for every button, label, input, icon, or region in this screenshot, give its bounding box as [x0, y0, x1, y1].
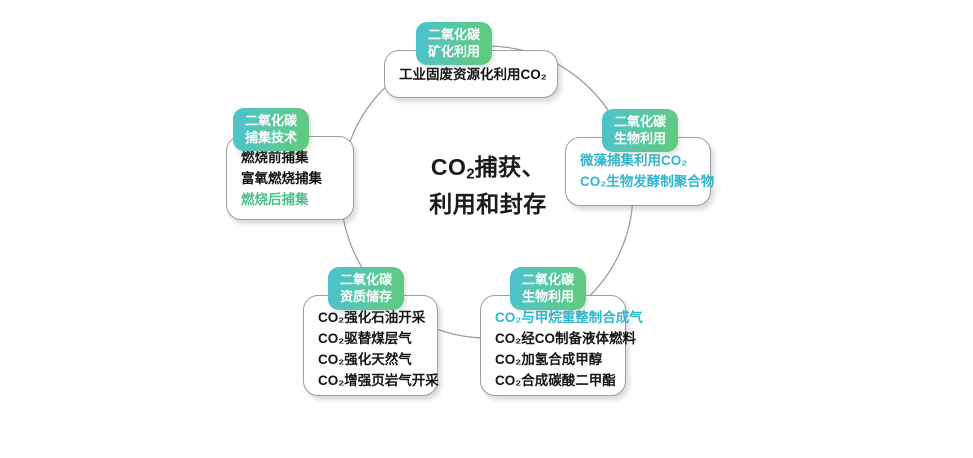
node-bio-bottom-items: CO₂与甲烷重整制合成气 CO₂经CO制备液体燃料 CO₂加氢合成甲醇 CO₂合… — [481, 307, 625, 391]
node-bio-bottom-badge-line-1: 二氧化碳 — [522, 271, 574, 288]
node-capture-badge: 二氧化碳 捕集技术 — [233, 108, 309, 151]
page-title-line-1-pre: CO — [431, 154, 467, 180]
list-item: CO₂与甲烷重整制合成气 — [495, 307, 611, 328]
list-item: CO₂生物发酵制聚合物 — [580, 171, 696, 192]
page-title-line-1: CO2捕获、 — [383, 152, 593, 189]
node-mineral-items: 工业固废资源化利用CO₂ — [385, 64, 557, 85]
node-bio-right-badge-line-2: 生物利用 — [614, 130, 666, 147]
node-bio-bottom-badge: 二氧化碳 生物利用 — [510, 267, 586, 310]
node-capture-badge-line-2: 捕集技术 — [245, 129, 297, 146]
list-item: 富氧燃烧捕集 — [241, 168, 339, 189]
list-item: CO₂增强页岩气开采 — [318, 370, 423, 391]
node-bio-bottom-badge-line-2: 生物利用 — [522, 288, 574, 305]
node-storage-badge: 二氧化碳 资质储存 — [328, 267, 404, 310]
list-item: 燃烧后捕集 — [241, 189, 339, 210]
list-item: CO₂经CO制备液体燃料 — [495, 328, 611, 349]
node-bio-right-items: 微藻捕集利用CO₂ CO₂生物发酵制聚合物 — [566, 150, 710, 192]
diagram-canvas: CO2捕获、 利用和封存 工业固废资源化利用CO₂ 二氧化碳 矿化利用 燃烧前捕… — [0, 0, 973, 458]
node-mineral-badge-line-2: 矿化利用 — [428, 43, 480, 60]
list-item: CO₂加氢合成甲醇 — [495, 349, 611, 370]
node-storage-card: CO₂强化石油开采 CO₂驱替煤层气 CO₂强化天然气 CO₂增强页岩气开采 — [303, 295, 438, 396]
node-storage-badge-line-1: 二氧化碳 — [340, 271, 392, 288]
list-item: 微藻捕集利用CO₂ — [580, 150, 696, 171]
node-bio-bottom-card: CO₂与甲烷重整制合成气 CO₂经CO制备液体燃料 CO₂加氢合成甲醇 CO₂合… — [480, 295, 626, 396]
node-mineral-badge-line-1: 二氧化碳 — [428, 26, 480, 43]
page-title-line-1-post: 捕获、 — [475, 154, 546, 180]
page-title-line-1-subscript: 2 — [466, 165, 474, 182]
list-item: CO₂强化天然气 — [318, 349, 423, 370]
list-item: 工业固废资源化利用CO₂ — [399, 64, 543, 85]
node-storage-items: CO₂强化石油开采 CO₂驱替煤层气 CO₂强化天然气 CO₂增强页岩气开采 — [304, 307, 437, 391]
node-mineral-badge: 二氧化碳 矿化利用 — [416, 22, 492, 65]
list-item: CO₂合成碳酸二甲酯 — [495, 370, 611, 391]
page-title: CO2捕获、 利用和封存 — [383, 152, 593, 220]
node-bio-right-badge-line-1: 二氧化碳 — [614, 113, 666, 130]
node-capture-items: 燃烧前捕集 富氧燃烧捕集 燃烧后捕集 — [227, 147, 353, 210]
list-item: CO₂驱替煤层气 — [318, 328, 423, 349]
list-item: CO₂强化石油开采 — [318, 307, 423, 328]
node-bio-right-badge: 二氧化碳 生物利用 — [602, 109, 678, 152]
node-capture-badge-line-1: 二氧化碳 — [245, 112, 297, 129]
page-title-line-2: 利用和封存 — [383, 189, 593, 220]
node-storage-badge-line-2: 资质储存 — [340, 288, 392, 305]
